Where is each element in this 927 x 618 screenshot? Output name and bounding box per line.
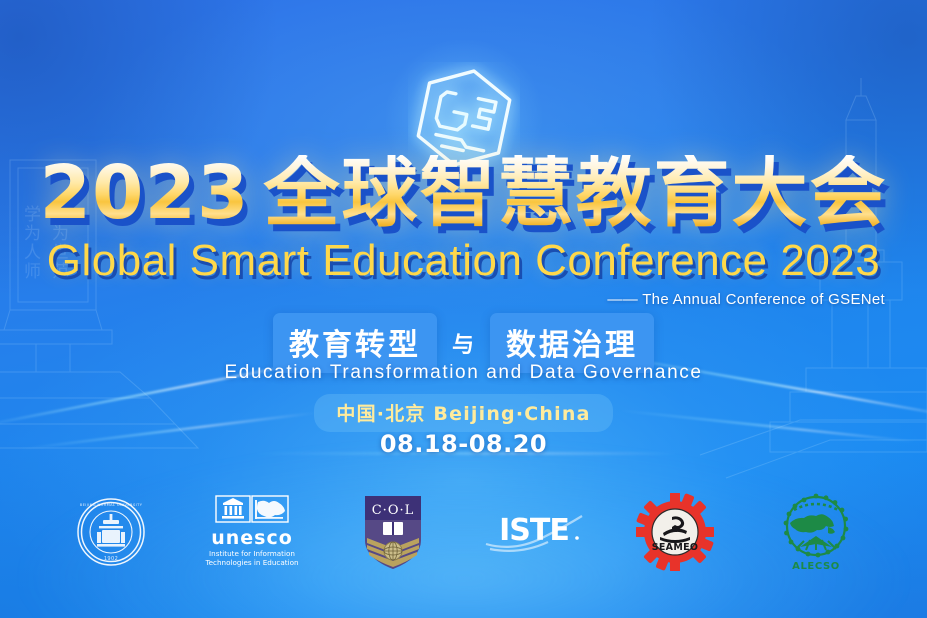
unesco-iite-icon: unesco Institute for Information Technol…: [192, 492, 312, 572]
iste-wordmark: ISTE: [499, 513, 569, 548]
logo-unesco-iite: unesco Institute for Information Technol…: [181, 486, 322, 578]
alecso-wordmark: ALECSO: [793, 561, 841, 572]
subtitle-english: Global Smart Education Conference 2023: [0, 236, 927, 286]
seameo-gear-icon: SEAMEO: [636, 493, 714, 571]
title-year: 2023: [40, 156, 250, 230]
col-crest-text: C·O·L: [372, 503, 415, 518]
theme-english: Education Transformation and Data Govern…: [0, 362, 927, 384]
alecso-icon: ALECSO: [776, 491, 856, 573]
svg-text:1902: 1902: [103, 556, 117, 562]
conference-poster: 学为人师 行为世范 2023全球智慧教育大会 Global Smart Educ…: [0, 0, 927, 618]
svg-text:Institute for Information: Institute for Information: [209, 549, 295, 558]
main-title: 2023全球智慧教育大会: [0, 155, 927, 231]
subtitle-annual-note: —— The Annual Conference of GSENet: [607, 291, 885, 308]
unesco-wordmark: unesco: [211, 527, 293, 549]
col-crest-icon: C·O·L: [359, 492, 427, 572]
logo-col: C·O·L: [322, 486, 463, 578]
svg-text:BEIJING NORMAL UNIVERSITY: BEIJING NORMAL UNIVERSITY: [79, 503, 142, 507]
svg-text:Technologies in Education: Technologies in Education: [204, 558, 298, 567]
logo-bnu: BEIJING NORMAL UNIVERSITY 1902: [40, 486, 181, 578]
title-chinese: 全球智慧教育大会: [263, 155, 887, 231]
partner-logo-strip: BEIJING NORMAL UNIVERSITY 1902: [40, 486, 887, 578]
logo-seameo: SEAMEO: [605, 486, 746, 578]
logo-iste: ISTE: [464, 486, 605, 578]
logo-alecso: ALECSO: [746, 486, 887, 578]
iste-icon: ISTE: [480, 508, 588, 556]
location-pill: 中国·北京 Beijing·China: [314, 394, 612, 432]
location-row: 中国·北京 Beijing·China: [0, 394, 927, 432]
bnu-seal-icon: BEIJING NORMAL UNIVERSITY 1902: [73, 494, 149, 570]
conference-date: 08.18-08.20: [0, 430, 927, 458]
seameo-wordmark: SEAMEO: [652, 542, 699, 553]
theme-conjunction: 与: [437, 327, 490, 359]
